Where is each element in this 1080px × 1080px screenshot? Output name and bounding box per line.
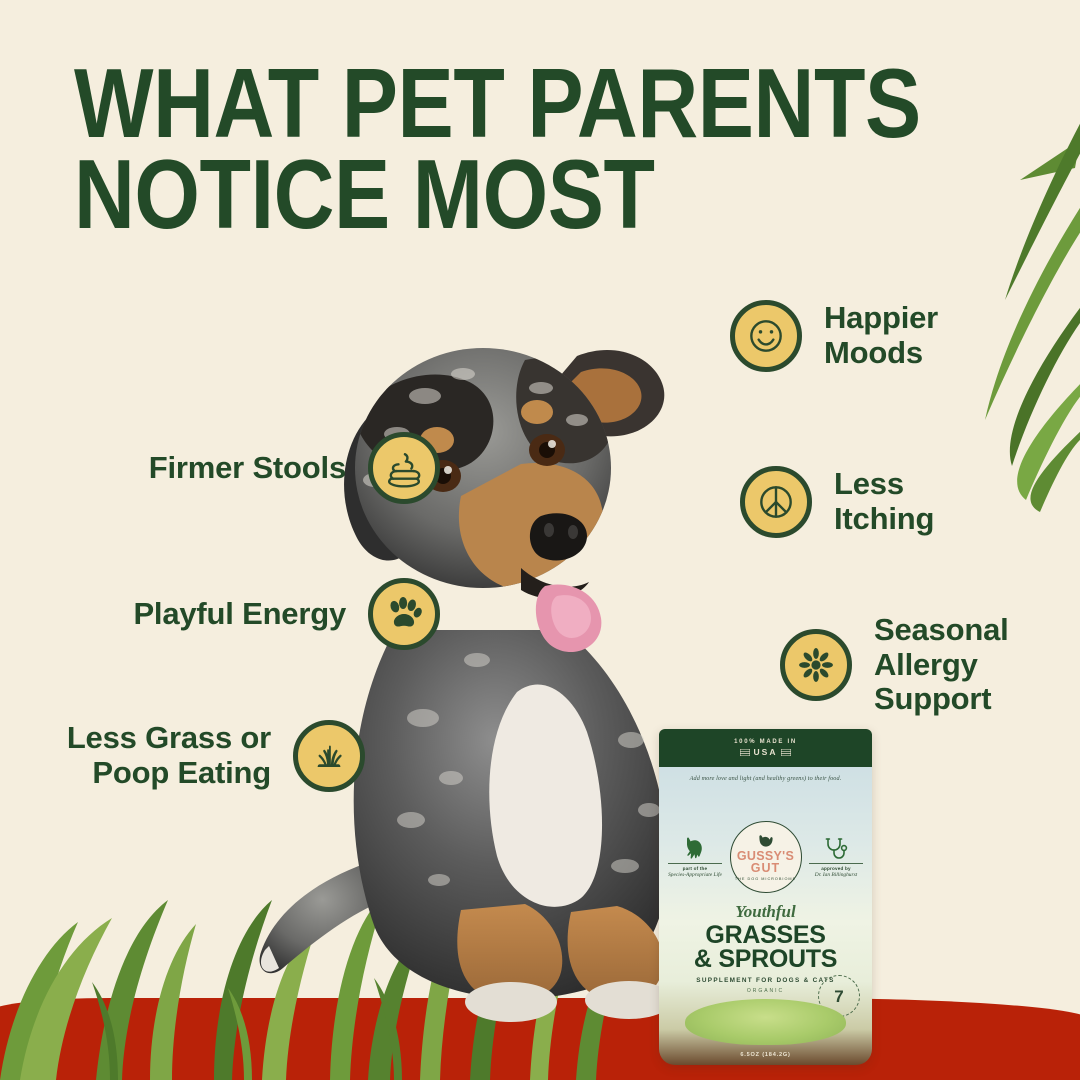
benefit-seasonal-allergy-support: Seasonal Allergy Support xyxy=(780,613,1080,717)
made-in-label: 100% MADE IN xyxy=(734,739,797,745)
package-badge-row: part of the Species-Appropriate Life GUS… xyxy=(659,821,872,893)
package-meadow-illustration xyxy=(685,999,846,1045)
peace-sign-icon xyxy=(740,466,812,538)
benefit-label: Firmer Stools xyxy=(149,451,346,486)
brand-tagline: THE DOG MICROBIOME xyxy=(735,877,796,881)
mark-caption: approved by xyxy=(809,863,863,871)
benefit-label: Playful Energy xyxy=(133,597,346,632)
benefit-firmer-stools: Firmer Stools xyxy=(60,432,440,504)
wolf-icon xyxy=(680,836,710,860)
benefit-label: Less Grass or Poop Eating xyxy=(67,721,271,790)
brand-line-2: GUT xyxy=(751,862,780,875)
mark-caption: part of the xyxy=(668,863,722,871)
benefit-less-itching: Less Itching xyxy=(740,466,1070,538)
vet-approved-mark: approved by Dr. Ian Billinghurst xyxy=(809,836,863,878)
brand-logo: GUSSY'S GUT THE DOG MICROBIOME xyxy=(730,821,802,893)
smiley-face-icon xyxy=(730,300,802,372)
benefit-less-grass-or-poop-eating: Less Grass or Poop Eating xyxy=(10,720,365,792)
package-top-band: 100% MADE IN USA xyxy=(659,729,872,767)
dog-head-icon xyxy=(755,833,777,849)
flower-burst-icon xyxy=(780,629,852,701)
mark-name: Dr. Ian Billinghurst xyxy=(809,872,863,878)
product-benefits-poster: WHAT PET PARENTS NOTICE MOST xyxy=(0,0,1080,1080)
benefit-label: Less Itching xyxy=(834,467,934,536)
package-tagline: Add more love and light (and healthy gre… xyxy=(659,775,872,782)
page-title: WHAT PET PARENTS NOTICE MOST xyxy=(74,58,921,240)
package-front: Add more love and light (and healthy gre… xyxy=(659,767,872,1065)
product-package: 100% MADE IN USA Add more love and light… xyxy=(659,729,872,1065)
stethoscope-icon xyxy=(821,836,851,860)
benefit-happier-moods: Happier Moods xyxy=(730,300,1060,372)
package-net-weight: 6.5OZ (184.2G) xyxy=(659,1052,872,1058)
package-script-word: Youthful xyxy=(659,903,872,920)
usa-text: USA xyxy=(754,747,778,757)
mark-name: Species-Appropriate Life xyxy=(668,872,722,878)
species-appropriate-mark: part of the Species-Appropriate Life xyxy=(668,836,722,878)
poop-icon xyxy=(368,432,440,504)
usa-label: USA xyxy=(740,747,792,757)
benefit-playful-energy: Playful Energy xyxy=(20,578,440,650)
seal-number: 7 xyxy=(834,988,843,1005)
benefit-label: Happier Moods xyxy=(824,301,938,370)
benefit-label: Seasonal Allergy Support xyxy=(874,613,1009,717)
package-product-name: GRASSES & SPROUTS xyxy=(659,923,872,972)
paw-print-icon xyxy=(368,578,440,650)
grass-tuft-icon xyxy=(293,720,365,792)
